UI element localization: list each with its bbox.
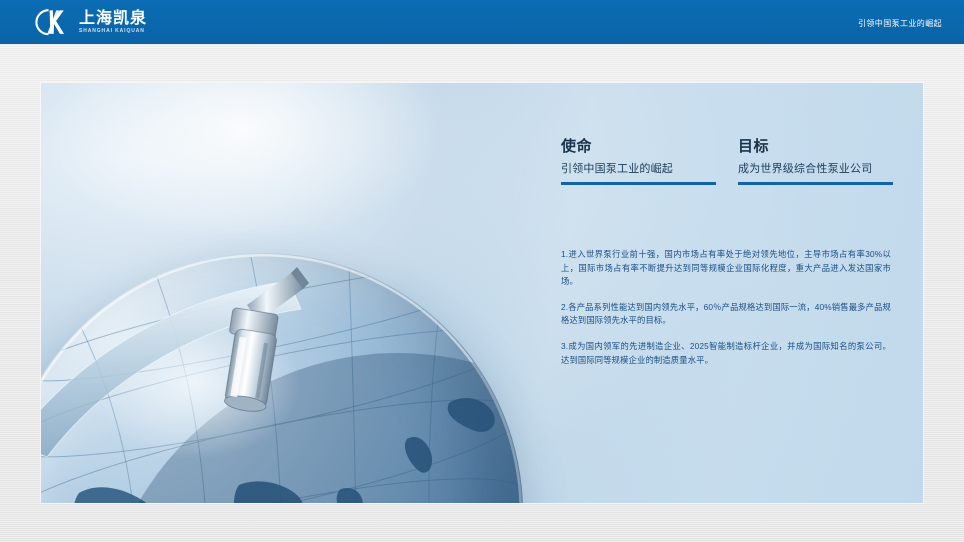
header-left-group: 上海凯泉 SHANGHAI KAIQUAN <box>0 7 147 37</box>
mission-title: 使命 <box>561 138 716 157</box>
goal-title: 目标 <box>738 138 893 157</box>
header-right-group: 引领中国泵工业的崛起 <box>858 13 964 31</box>
goal-paragraph-list: 1.进入世界泵行业前十强，国内市场占有率处于绝对领先地位，主导市场占有率30%以… <box>561 248 891 367</box>
goal-subtitle: 成为世界级综合性泵业公司 <box>738 162 893 176</box>
slide-canvas: 使命 引领中国泵工业的崛起 目标 成为世界级综合性泵业公司 1.进入世界泵行业前… <box>41 83 923 503</box>
heading-block-mission: 使命 引领中国泵工业的崛起 <box>561 138 716 185</box>
header-tagline: 引领中国泵工业的崛起 <box>858 19 942 28</box>
page-header: 上海凯泉 SHANGHAI KAIQUAN 引领中国泵工业的崛起 <box>0 0 964 44</box>
company-logo[interactable]: 上海凯泉 SHANGHAI KAIQUAN <box>33 7 147 37</box>
goal-paragraph-2: 2.各产品系列性能达到国内领先水平，60％产品规格达到国际一流，40%销售最多产… <box>561 301 891 328</box>
heading-block-goal: 目标 成为世界级综合性泵业公司 <box>738 138 893 185</box>
goal-paragraph-3: 3.成为国内领军的先进制造企业、2025智能制造标杆企业，并成为国际知名的泵公司… <box>561 340 891 367</box>
slide-text-column: 使命 引领中国泵工业的崛起 目标 成为世界级综合性泵业公司 1.进入世界泵行业前… <box>521 83 923 503</box>
logo-company-en: SHANGHAI KAIQUAN <box>79 29 147 34</box>
presentation-page: 上海凯泉 SHANGHAI KAIQUAN 引领中国泵工业的崛起 <box>0 0 964 542</box>
kaiquan-monogram-icon <box>33 7 73 37</box>
mission-underline <box>561 182 716 185</box>
headings-row: 使命 引领中国泵工业的崛起 目标 成为世界级综合性泵业公司 <box>561 138 893 185</box>
logo-company-cn: 上海凯泉 <box>79 11 147 27</box>
goal-underline <box>738 182 893 185</box>
logo-wordmark: 上海凯泉 SHANGHAI KAIQUAN <box>79 11 147 34</box>
goal-paragraph-1: 1.进入世界泵行业前十强，国内市场占有率处于绝对领先地位，主导市场占有率30%以… <box>561 248 891 289</box>
mission-subtitle: 引领中国泵工业的崛起 <box>561 162 716 176</box>
pump-arc-illustration <box>41 211 523 503</box>
